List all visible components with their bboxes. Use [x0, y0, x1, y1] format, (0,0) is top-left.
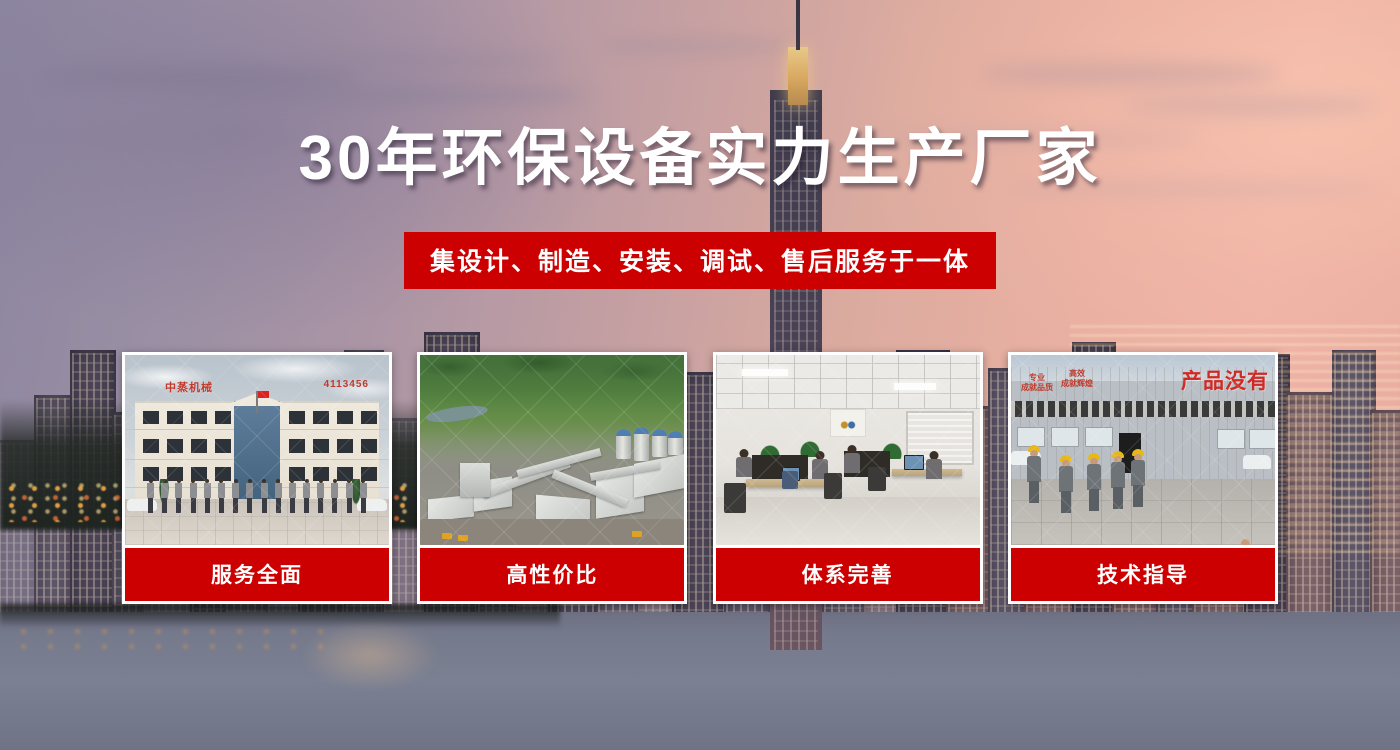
- card-caption: 服务全面: [125, 548, 389, 601]
- subtitle-banner: 集设计、制造、安装、调试、售后服务于一体: [404, 232, 996, 289]
- river-bank: [0, 604, 560, 626]
- card-photo-industrial-plant: [420, 355, 684, 545]
- feature-card[interactable]: 体系完善: [713, 352, 983, 604]
- building-sign-text: 中蒸机械: [165, 379, 213, 395]
- promo-banner: 30年环保设备实力生产厂家 集设计、制造、安装、调试、售后服务于一体: [0, 0, 1400, 750]
- card-photo-headquarters: 中蒸机械 4113456: [125, 355, 389, 545]
- feature-card[interactable]: 中蒸机械 4113456: [122, 352, 392, 604]
- card-caption: 体系完善: [716, 548, 980, 601]
- page-title: 30年环保设备实力生产厂家: [0, 128, 1400, 190]
- flag-icon: [256, 391, 258, 413]
- feature-card[interactable]: 高性价比: [417, 352, 687, 604]
- water-shine: [300, 620, 440, 690]
- card-caption: 高性价比: [420, 548, 684, 601]
- feature-card[interactable]: 产品没有 专业成就品质 高效成就辉煌: [1008, 352, 1278, 604]
- cloud-streak: [40, 66, 360, 88]
- cloud-streak: [170, 86, 590, 104]
- subtitle-container: 集设计、制造、安装、调试、售后服务于一体: [0, 232, 1400, 289]
- tower-crown-light: [788, 47, 808, 105]
- factory-wall-slogan-2: 高效成就辉煌: [1061, 369, 1093, 389]
- cloud-streak: [600, 40, 800, 52]
- cloud-streak: [1120, 96, 1380, 116]
- factory-wall-slogan-large: 产品没有: [1181, 365, 1269, 395]
- wall-poster: [830, 409, 866, 437]
- tower-antenna: [796, 0, 800, 50]
- light-reflections: [10, 624, 340, 654]
- factory-wall-slogan-1: 专业成就品质: [1021, 373, 1053, 393]
- feature-card-list: 中蒸机械 4113456: [122, 352, 1278, 604]
- card-caption: 技术指导: [1011, 548, 1275, 601]
- cloud-streak: [980, 62, 1280, 86]
- card-photo-workers: 产品没有 专业成就品质 高效成就辉煌: [1011, 355, 1275, 545]
- building-phone-text: 4113456: [324, 379, 369, 390]
- cloud-streak: [300, 54, 560, 68]
- card-photo-office: [716, 355, 980, 545]
